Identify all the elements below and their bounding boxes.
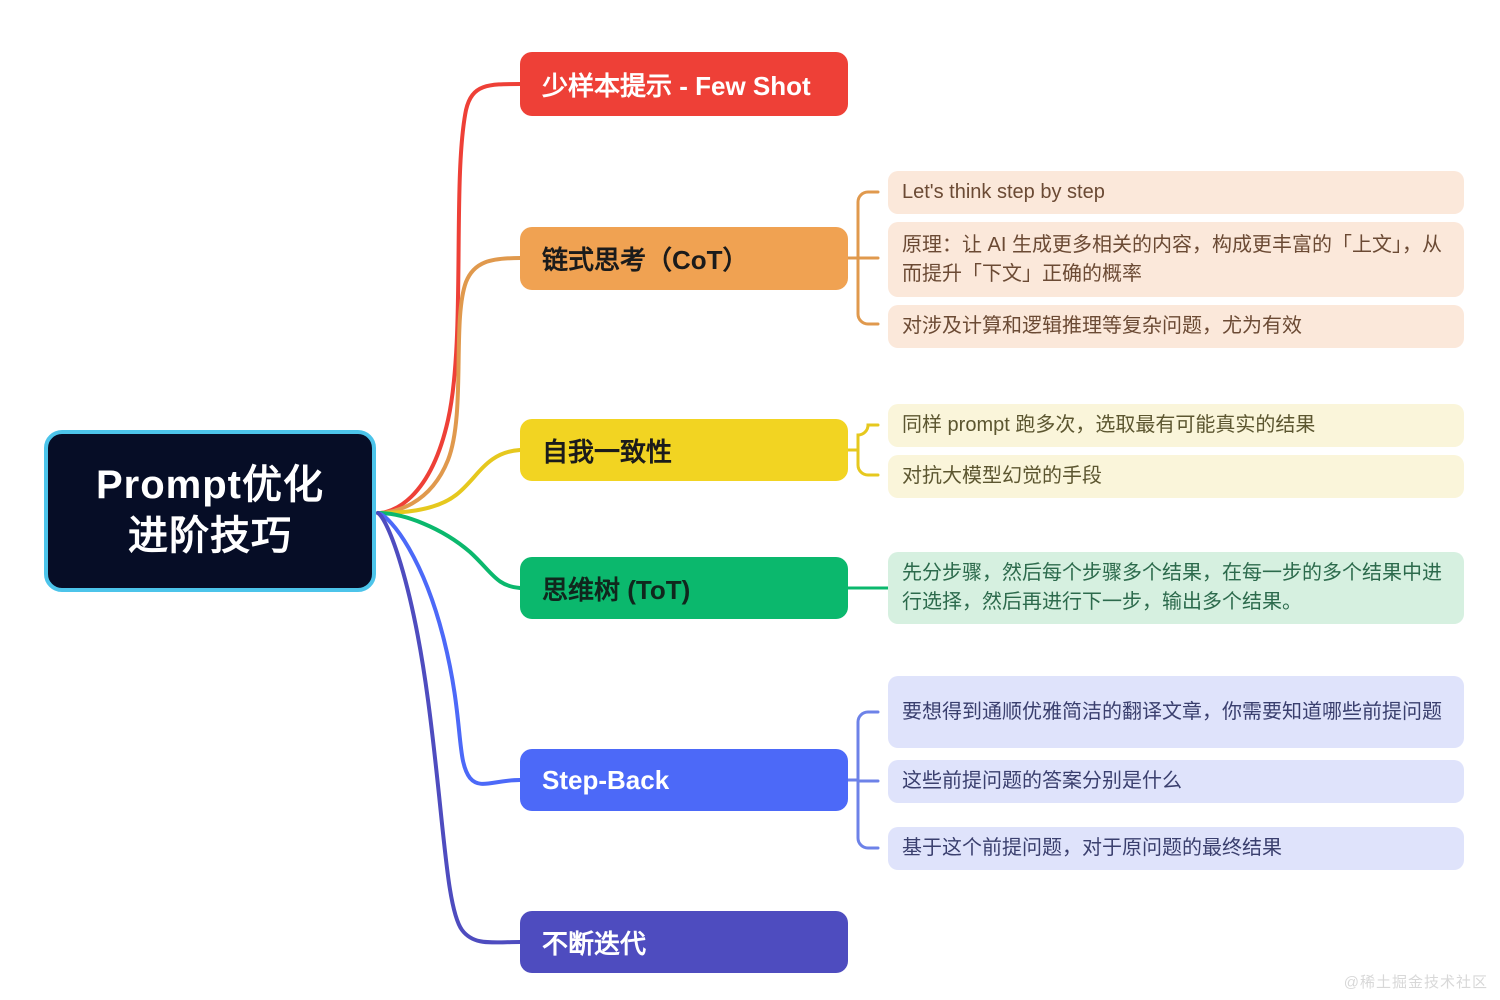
leaf-cot-1[interactable]: Let's think step by step — [888, 171, 1464, 214]
branch-step-back[interactable]: Step-Back — [520, 749, 848, 811]
leaf-text: 基于这个前提问题，对于原问题的最终结果 — [902, 834, 1282, 863]
leaf-text: 对涉及计算和逻辑推理等复杂问题，尤为有效 — [902, 312, 1302, 341]
branch-self-consistency[interactable]: 自我一致性 — [520, 419, 848, 481]
leaf-text: 先分步骤，然后每个步骤多个结果，在每一步的多个结果中进行选择，然后再进行下一步，… — [902, 559, 1448, 617]
leaf-step-back-2[interactable]: 这些前提问题的答案分别是什么 — [888, 760, 1464, 803]
leaf-text: 对抗大模型幻觉的手段 — [902, 462, 1102, 491]
center-node[interactable]: Prompt优化 进阶技巧 — [44, 430, 376, 592]
center-node-title-line2: 进阶技巧 — [128, 511, 292, 562]
leaf-text: Let's think step by step — [902, 178, 1105, 207]
center-node-title-line1: Prompt优化 — [96, 460, 324, 511]
leaf-step-back-3[interactable]: 基于这个前提问题，对于原问题的最终结果 — [888, 827, 1464, 870]
watermark: @稀土掘金技术社区 — [1344, 971, 1488, 992]
branch-few-shot[interactable]: 少样本提示 - Few Shot — [520, 52, 848, 116]
leaf-text: 原理：让 AI 生成更多相关的内容，构成更丰富的「上文」，从而提升「下文」正确的… — [902, 231, 1448, 289]
edge-step-back — [378, 513, 520, 784]
branch-iterate[interactable]: 不断迭代 — [520, 911, 848, 973]
branch-cot[interactable]: 链式思考（CoT） — [520, 227, 848, 290]
branch-label: 思维树 (ToT) — [542, 570, 690, 607]
edge-tot — [378, 513, 520, 588]
branch-label: 少样本提示 - Few Shot — [542, 66, 811, 103]
edge-sb-bracket — [858, 712, 878, 848]
edge-cot — [378, 258, 520, 513]
leaf-cot-3[interactable]: 对涉及计算和逻辑推理等复杂问题，尤为有效 — [888, 305, 1464, 348]
leaf-text: 要想得到通顺优雅简洁的翻译文章，你需要知道哪些前提问题 — [902, 698, 1442, 727]
edge-sc-bracket — [858, 425, 878, 475]
edge-self-consistency — [378, 450, 520, 513]
leaf-self-consistency-1[interactable]: 同样 prompt 跑多次，选取最有可能真实的结果 — [888, 404, 1464, 447]
leaf-text: 同样 prompt 跑多次，选取最有可能真实的结果 — [902, 411, 1315, 440]
branch-label: 不断迭代 — [542, 924, 646, 961]
edge-cot-bracket — [858, 192, 878, 324]
leaf-text: 这些前提问题的答案分别是什么 — [902, 767, 1182, 796]
branch-tot[interactable]: 思维树 (ToT) — [520, 557, 848, 619]
branch-label: Step-Back — [542, 765, 669, 796]
leaf-tot-1[interactable]: 先分步骤，然后每个步骤多个结果，在每一步的多个结果中进行选择，然后再进行下一步，… — [888, 552, 1464, 624]
branch-label: 自我一致性 — [542, 432, 672, 469]
leaf-cot-2[interactable]: 原理：让 AI 生成更多相关的内容，构成更丰富的「上文」，从而提升「下文」正确的… — [888, 222, 1464, 297]
leaf-step-back-1[interactable]: 要想得到通顺优雅简洁的翻译文章，你需要知道哪些前提问题 — [888, 676, 1464, 748]
edge-iterate — [378, 513, 520, 942]
mindmap-canvas: Prompt优化 进阶技巧 少样本提示 - Few Shot 链式思考（CoT）… — [0, 0, 1500, 1000]
branch-label: 链式思考（CoT） — [542, 240, 749, 277]
edge-few-shot — [378, 84, 520, 513]
leaf-self-consistency-2[interactable]: 对抗大模型幻觉的手段 — [888, 455, 1464, 498]
